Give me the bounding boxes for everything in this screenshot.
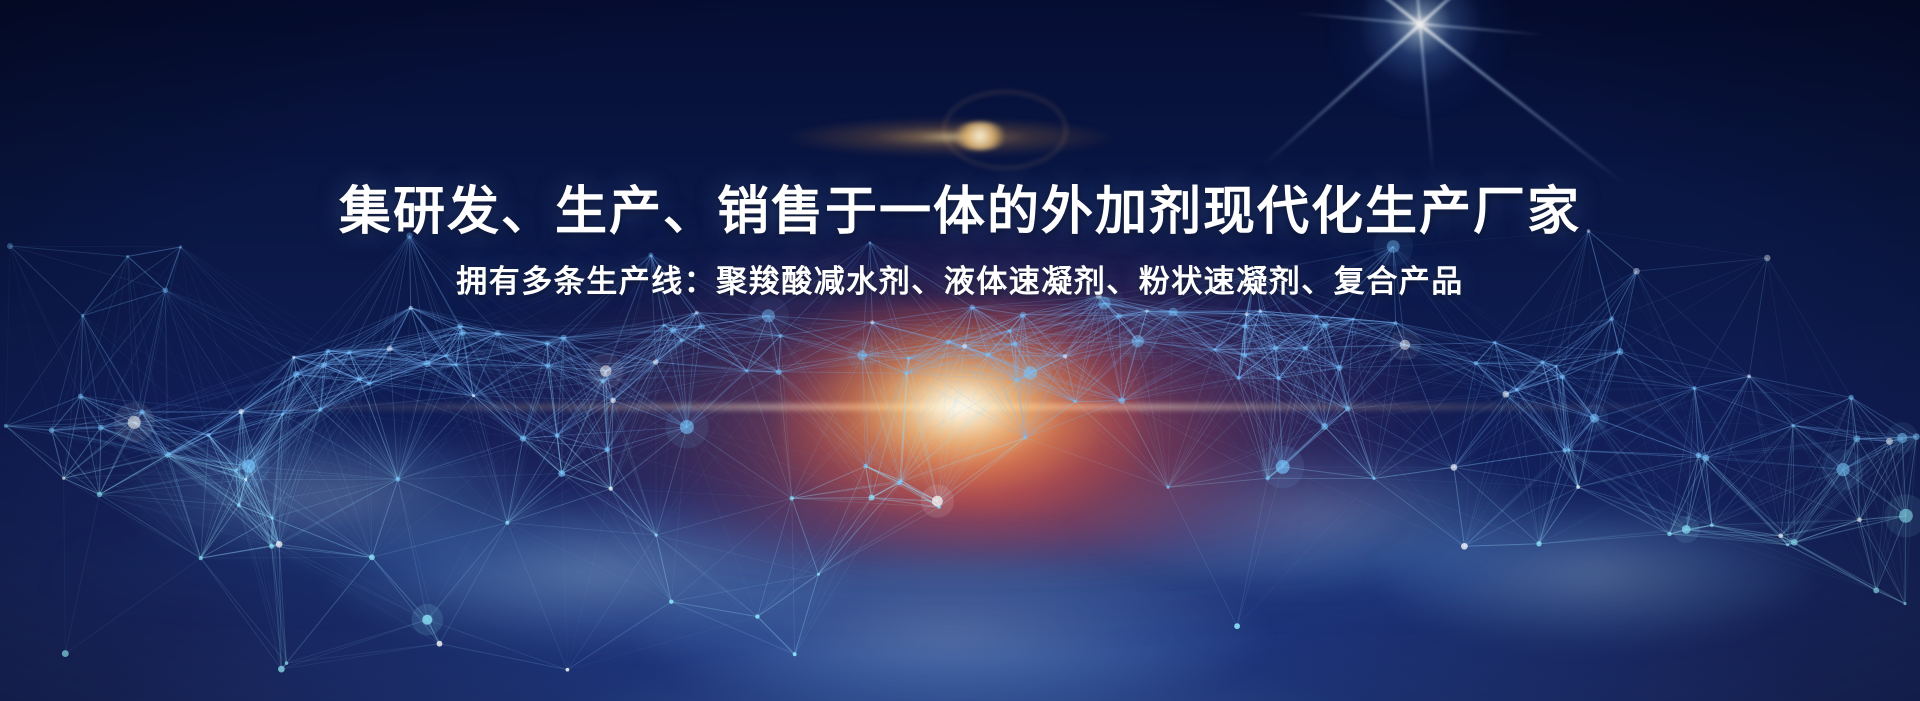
network-mesh-icon — [0, 0, 1920, 701]
page-subtitle: 拥有多条生产线：聚羧酸减水剂、液体速凝剂、粉状速凝剂、复合产品 — [0, 262, 1920, 302]
hero-banner: 集研发、生产、销售于一体的外加剂现代化生产厂家 拥有多条生产线：聚羧酸减水剂、液… — [0, 0, 1920, 701]
page-title: 集研发、生产、销售于一体的外加剂现代化生产厂家 — [0, 181, 1920, 243]
